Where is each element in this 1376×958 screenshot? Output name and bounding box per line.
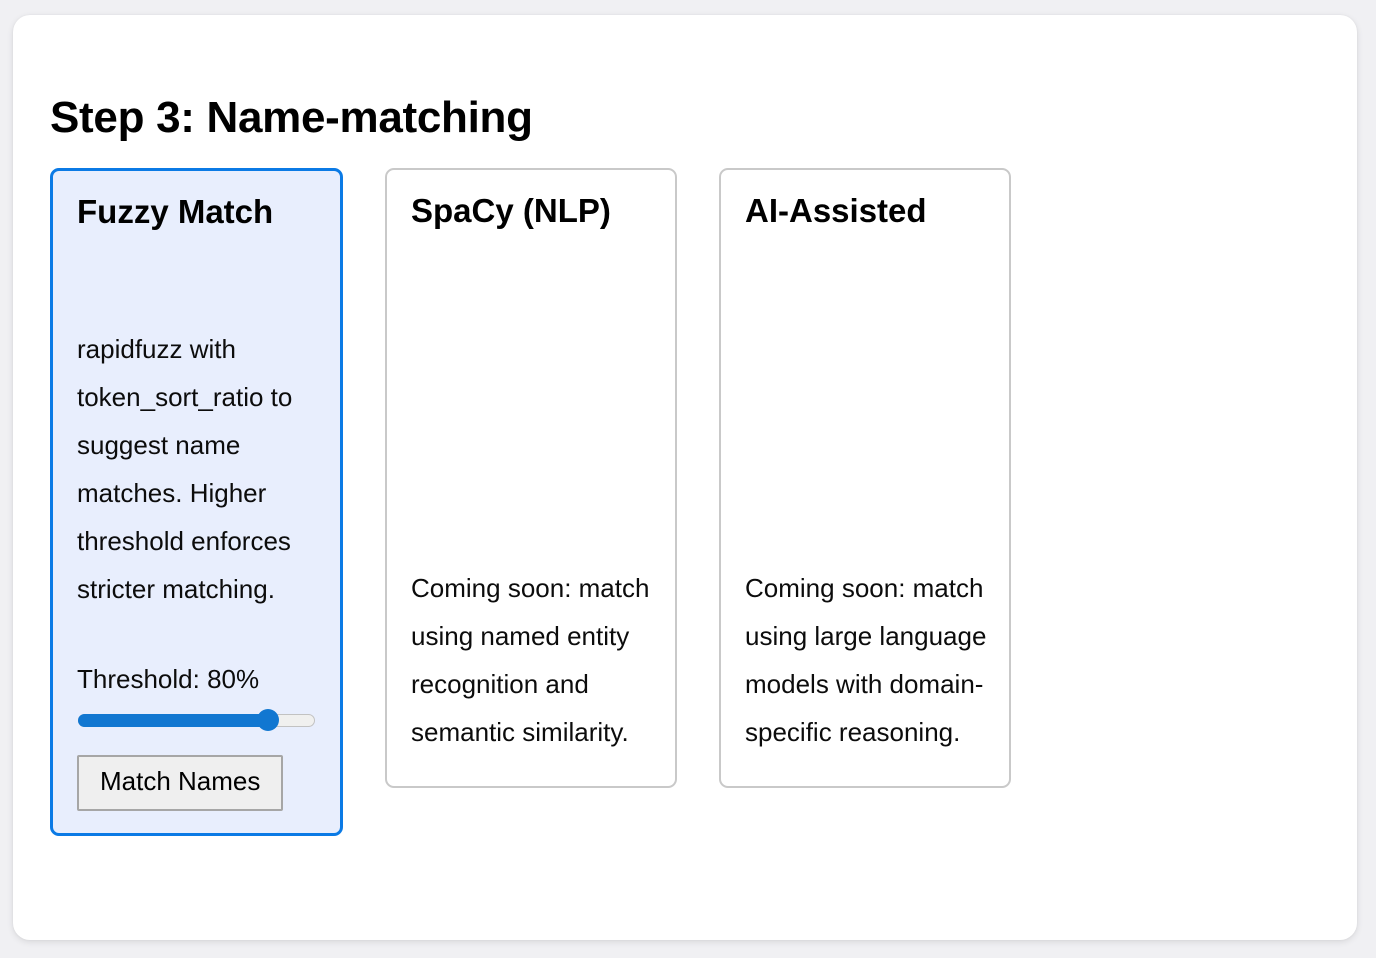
method-card-fuzzy-match[interactable]: Fuzzy Match rapidfuzz with token_sort_ra…: [50, 168, 343, 836]
method-card-ai-assisted[interactable]: AI-Assisted Coming soon: match using lar…: [719, 168, 1011, 788]
method-card-list: Fuzzy Match rapidfuzz with token_sort_ra…: [50, 168, 1011, 836]
threshold-control: Threshold: 80%: [77, 663, 318, 732]
card-title-ai-assisted: AI-Assisted: [745, 192, 987, 231]
card-description-ai-assisted: Coming soon: match using large language …: [745, 564, 987, 756]
card-description-fuzzy-match: rapidfuzz with token_sort_ratio to sugge…: [77, 325, 318, 613]
slider-thumb[interactable]: [257, 709, 279, 731]
method-card-spacy-nlp[interactable]: SpaCy (NLP) Coming soon: match using nam…: [385, 168, 677, 788]
card-title-fuzzy-match: Fuzzy Match: [77, 193, 318, 232]
card-title-spacy-nlp: SpaCy (NLP): [411, 192, 653, 231]
threshold-label: Threshold: 80%: [77, 663, 318, 696]
step-panel: Step 3: Name-matching Fuzzy Match rapidf…: [13, 15, 1357, 940]
match-names-button[interactable]: Match Names: [77, 755, 283, 810]
slider-fill: [78, 714, 268, 727]
threshold-slider[interactable]: [78, 709, 315, 731]
page-title: Step 3: Name-matching: [50, 92, 533, 145]
card-description-spacy-nlp: Coming soon: match using named entity re…: [411, 564, 653, 756]
